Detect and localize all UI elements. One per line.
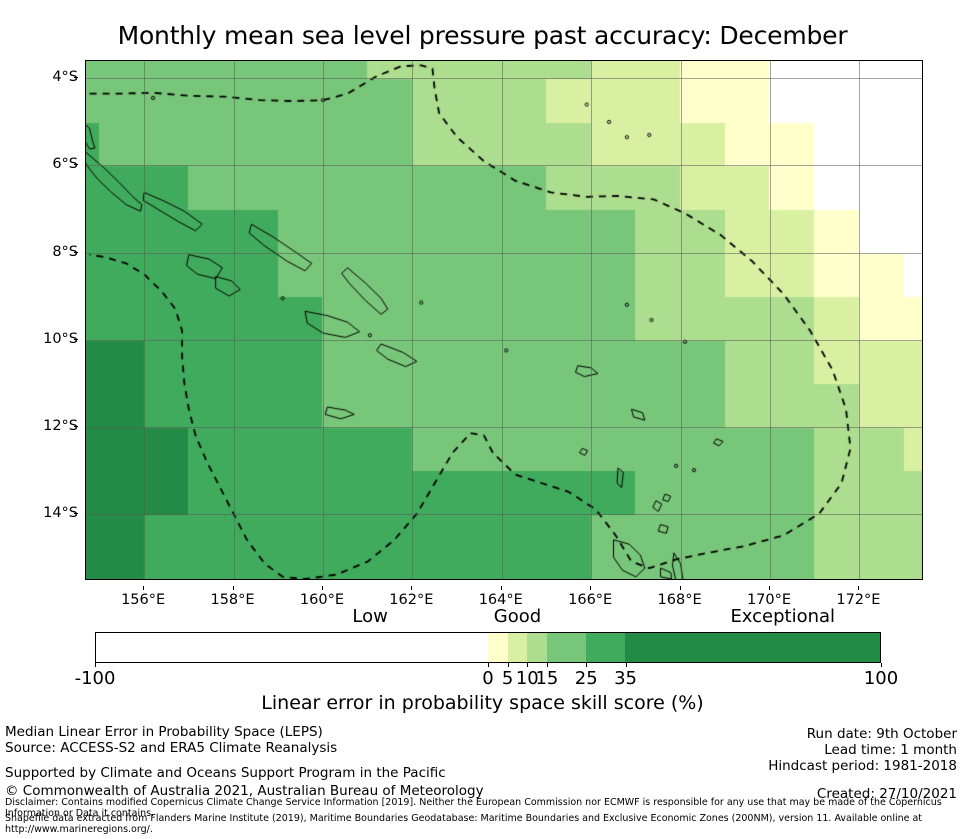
page-title: Monthly mean sea level pressure past acc… [0, 21, 965, 50]
colorbar-tick-label: 0 [482, 668, 493, 689]
latitude-tick-mark [74, 339, 78, 340]
gridline-vertical [502, 61, 503, 579]
latitude-tick-label: 10°S [6, 331, 78, 347]
latitude-axis: 4°S6°S8°S10°S12°S14°S [0, 60, 78, 578]
gridline-horizontal [86, 165, 922, 166]
gridline-vertical [681, 61, 682, 579]
gridline-vertical [412, 61, 413, 579]
latitude-tick-label: 12°S [6, 418, 78, 434]
colorbar-segment [527, 633, 547, 662]
colorbar-tick-mark [547, 663, 548, 667]
longitude-tick-label: 168°E [658, 592, 702, 608]
colorbar-category-label: Low [352, 606, 387, 627]
latitude-tick-mark [74, 77, 78, 78]
latitude-tick-label: 8°S [6, 244, 78, 260]
colorbar-tick-mark [527, 663, 528, 667]
longitude-tick-mark [143, 586, 144, 590]
gridline-horizontal [86, 427, 922, 428]
latitude-tick-label: 14°S [6, 505, 78, 521]
longitude-tick-mark [501, 586, 502, 590]
footer-lead-time: Lead time: 1 month [768, 742, 957, 758]
footer-data-source: Source: ACCESS-S2 and ERA5 Climate Reana… [5, 740, 337, 756]
gridline-vertical [859, 61, 860, 579]
colorbar-segment [96, 633, 488, 662]
footer-run-info-block: Run date: 9th October Lead time: 1 month… [768, 726, 957, 774]
colorbar-tick-label: 25 [575, 668, 598, 689]
latitude-tick-mark [74, 513, 78, 514]
longitude-tick-label: 166°E [568, 592, 612, 608]
longitude-axis: 156°E158°E160°E162°E164°E166°E168°E170°E… [85, 586, 921, 608]
gridline-horizontal [86, 340, 922, 341]
longitude-tick-mark [769, 586, 770, 590]
colorbar-segment [586, 633, 625, 662]
footer-shapefile-line-2: http://www.marineregions.org/. [5, 824, 922, 835]
gridline-vertical [234, 61, 235, 579]
latitude-tick-mark [74, 164, 78, 165]
latitude-tick-label: 6°S [6, 156, 78, 172]
colorbar-tick-label: 100 [864, 668, 898, 689]
gridline-vertical [323, 61, 324, 579]
colorbar-tick-mark [586, 663, 587, 667]
longitude-tick-label: 172°E [836, 592, 880, 608]
colorbar-tick-label: -100 [75, 668, 116, 689]
colorbar-tick-mark [881, 663, 882, 667]
footer-shapefile-line-1: Shapefile data extracted from Flanders M… [5, 813, 922, 824]
gridline-horizontal [86, 78, 922, 79]
colorbar-segment [488, 633, 508, 662]
colorbar-tick-mark [95, 663, 96, 667]
longitude-tick-mark [680, 586, 681, 590]
gridline-horizontal [86, 253, 922, 254]
footer-shapefile-credit: Shapefile data extracted from Flanders M… [5, 813, 922, 835]
footer-source-block: Median Linear Error in Probability Space… [5, 724, 337, 756]
colorbar-segment [508, 633, 528, 662]
colorbar-container: -1000510152535100LowGoodExceptional [95, 632, 881, 663]
gridline-vertical [591, 61, 592, 579]
colorbar-category-label: Exceptional [730, 606, 835, 627]
longitude-tick-label: 160°E [300, 592, 344, 608]
footer-support-line: Supported by Climate and Oceans Support … [5, 765, 446, 781]
colorbar-tick-mark [508, 663, 509, 667]
colorbar-segment [625, 633, 880, 662]
latitude-tick-mark [74, 252, 78, 253]
footer-metric-name: Median Linear Error in Probability Space… [5, 724, 337, 740]
colorbar-tick-label: 5 [502, 668, 513, 689]
longitude-tick-mark [233, 586, 234, 590]
footer-hindcast-period: Hindcast period: 1981-2018 [768, 758, 957, 774]
footer-disclaimer-line-1: Disclaimer: Contains modified Copernicus… [5, 797, 942, 808]
gridline-vertical [770, 61, 771, 579]
longitude-tick-mark [858, 586, 859, 590]
colorbar-tick-mark [626, 663, 627, 667]
gridline-horizontal [86, 514, 922, 515]
colorbar-category-label: Good [494, 606, 541, 627]
gridline-vertical [144, 61, 145, 579]
latitude-tick-label: 4°S [6, 69, 78, 85]
longitude-tick-label: 156°E [121, 592, 165, 608]
longitude-tick-label: 158°E [210, 592, 254, 608]
colorbar-segment [547, 633, 586, 662]
longitude-tick-mark [411, 586, 412, 590]
colorbar-tick-label: 35 [614, 668, 637, 689]
colorbar-tick-mark [488, 663, 489, 667]
footer-run-date: Run date: 9th October [768, 726, 957, 742]
skill-score-heatmap [86, 61, 922, 579]
map-plot-area [85, 60, 923, 580]
longitude-tick-mark [322, 586, 323, 590]
colorbar-tick-label: 15 [535, 668, 558, 689]
colorbar [95, 632, 881, 663]
longitude-tick-label: 162°E [389, 592, 433, 608]
colorbar-axis-label: Linear error in probability space skill … [0, 692, 965, 714]
longitude-tick-mark [590, 586, 591, 590]
latitude-tick-mark [74, 426, 78, 427]
